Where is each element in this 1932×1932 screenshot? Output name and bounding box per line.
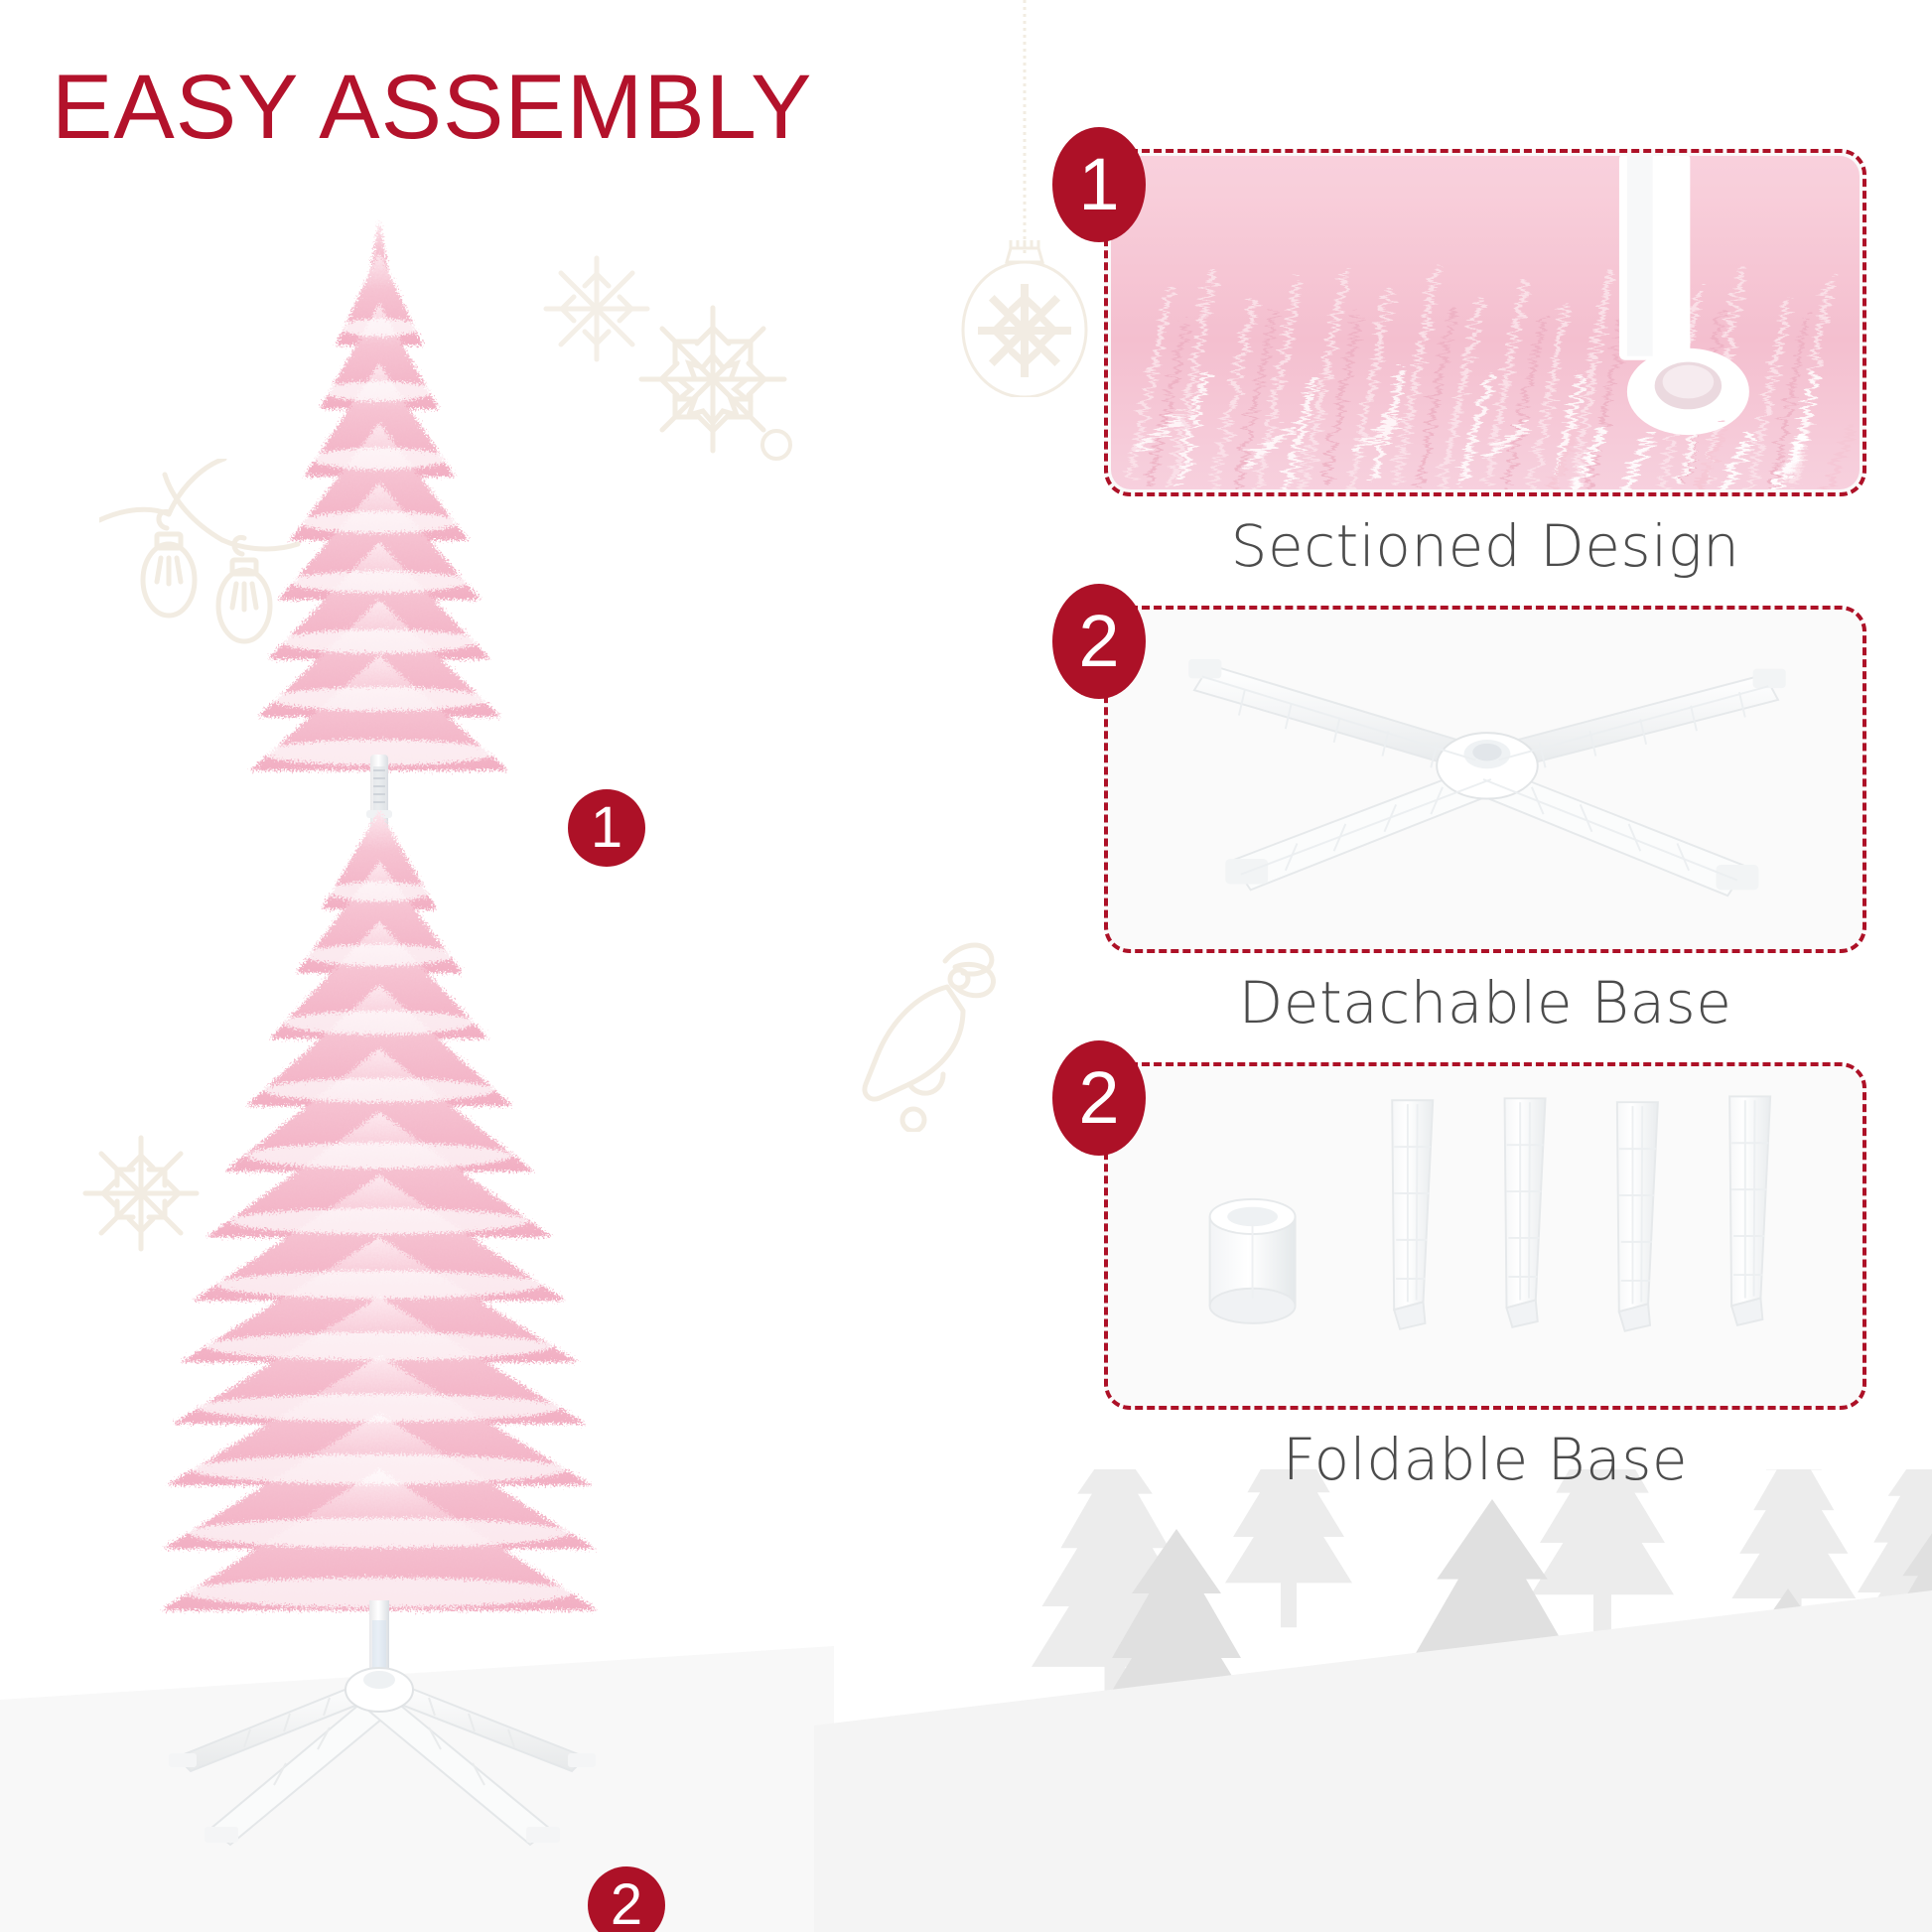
pine-tree-silhouette	[993, 1469, 1932, 1932]
panel-frame-2	[1104, 606, 1866, 953]
panel-badge-1: 1	[1052, 127, 1146, 242]
panel-image-foldable-base	[1111, 1069, 1860, 1403]
hero-badge-2: 2	[588, 1866, 665, 1932]
feature-panel-detachable-base[interactable]: 2	[1052, 606, 1866, 1036]
panel-badge-2: 2	[1052, 584, 1146, 699]
panel-badge-3: 2	[1052, 1040, 1146, 1156]
panel-frame-1	[1104, 149, 1866, 496]
panel-caption-sectioned-design: Sectioned Design	[1104, 512, 1866, 580]
panel-frame-3	[1104, 1062, 1866, 1410]
panel-caption-foldable-base: Foldable Base	[1104, 1426, 1866, 1493]
infographic-canvas: EASY ASSEMBLY	[0, 0, 1932, 1932]
panel-image-sectioned-design	[1111, 156, 1860, 489]
hero-product-image: 1 2	[119, 179, 794, 1866]
tree-stand-base	[169, 1668, 596, 1845]
page-title: EASY ASSEMBLY	[52, 62, 812, 153]
hero-badge-1: 1	[568, 789, 645, 867]
feature-panel-foldable-base[interactable]: 2	[1052, 1062, 1866, 1493]
base-hub-part	[1210, 1199, 1296, 1323]
panel-image-detachable-base	[1111, 613, 1860, 946]
feature-panel-sectioned-design[interactable]: 1	[1052, 149, 1866, 580]
bell-icon	[852, 933, 1040, 1132]
feature-panel-list: 1	[1052, 149, 1866, 1519]
panel-caption-detachable-base: Detachable Base	[1104, 969, 1866, 1036]
snow-ground-right	[814, 1535, 1932, 1932]
